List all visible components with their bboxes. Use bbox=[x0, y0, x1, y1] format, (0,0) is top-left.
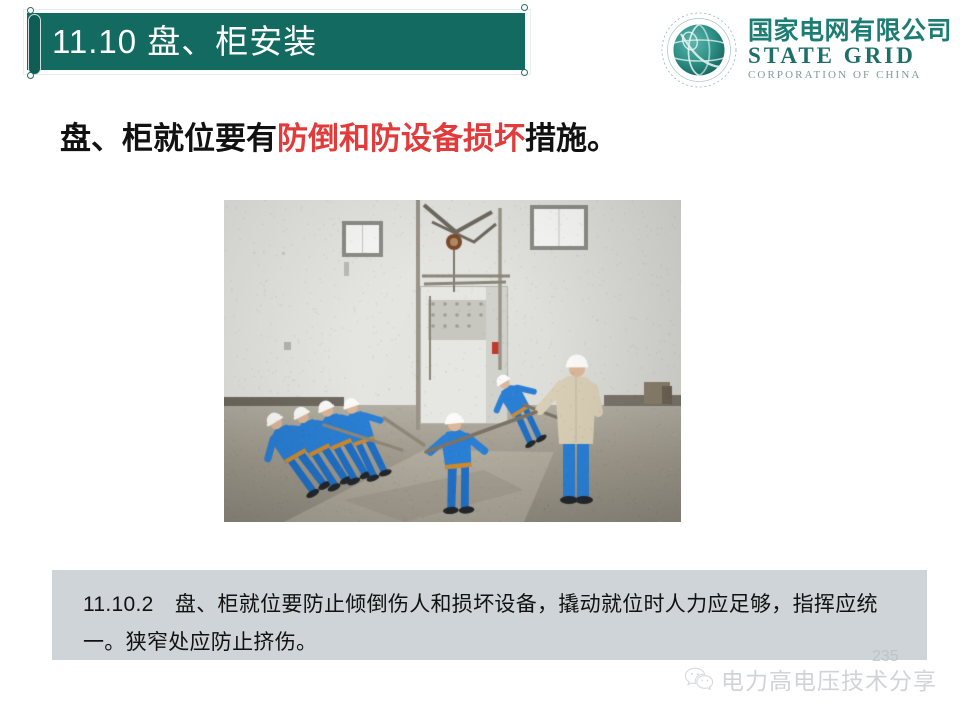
caption-text: 11.10.2 盘、柜就位要防止倾倒伤人和损坏设备，撬动就位时人力应足够，指挥应… bbox=[83, 586, 893, 662]
title-accent-bar bbox=[28, 14, 41, 75]
page-number: 235 bbox=[872, 648, 899, 666]
logo-chinese-name: 国家电网有限公司 bbox=[748, 18, 952, 44]
selection-handle-bottom-left[interactable] bbox=[27, 72, 34, 79]
state-grid-logo: 国家电网有限公司 STATE GRID CORPORATION OF CHINA bbox=[660, 8, 950, 90]
selection-handle-top-left[interactable] bbox=[27, 7, 34, 14]
main-heading: 盘、柜就位要有防倒和防设备损坏措施。 bbox=[60, 113, 820, 158]
heading-suffix: 措施。 bbox=[525, 121, 618, 156]
state-grid-wordmark: 国家电网有限公司 STATE GRID CORPORATION OF CHINA bbox=[748, 16, 952, 82]
wechat-icon bbox=[684, 666, 714, 692]
cabinet-installation-photo bbox=[224, 200, 681, 522]
selection-handle-top-right[interactable] bbox=[521, 4, 528, 11]
wechat-watermark: 电力高电压技术分享 bbox=[684, 662, 937, 696]
watermark-text: 电力高电压技术分享 bbox=[721, 662, 937, 696]
page-title: 11.10 盘、柜安装 bbox=[52, 16, 512, 68]
heading-prefix: 盘、柜就位要有 bbox=[60, 121, 277, 156]
state-grid-globe-emblem bbox=[660, 10, 738, 88]
logo-subtitle: CORPORATION OF CHINA bbox=[748, 69, 952, 82]
logo-english-name: STATE GRID bbox=[748, 44, 952, 68]
photo-canvas bbox=[224, 200, 681, 522]
selection-handle-bottom-right[interactable] bbox=[521, 69, 528, 76]
heading-highlight: 防倒和防设备损坏 bbox=[277, 121, 525, 156]
